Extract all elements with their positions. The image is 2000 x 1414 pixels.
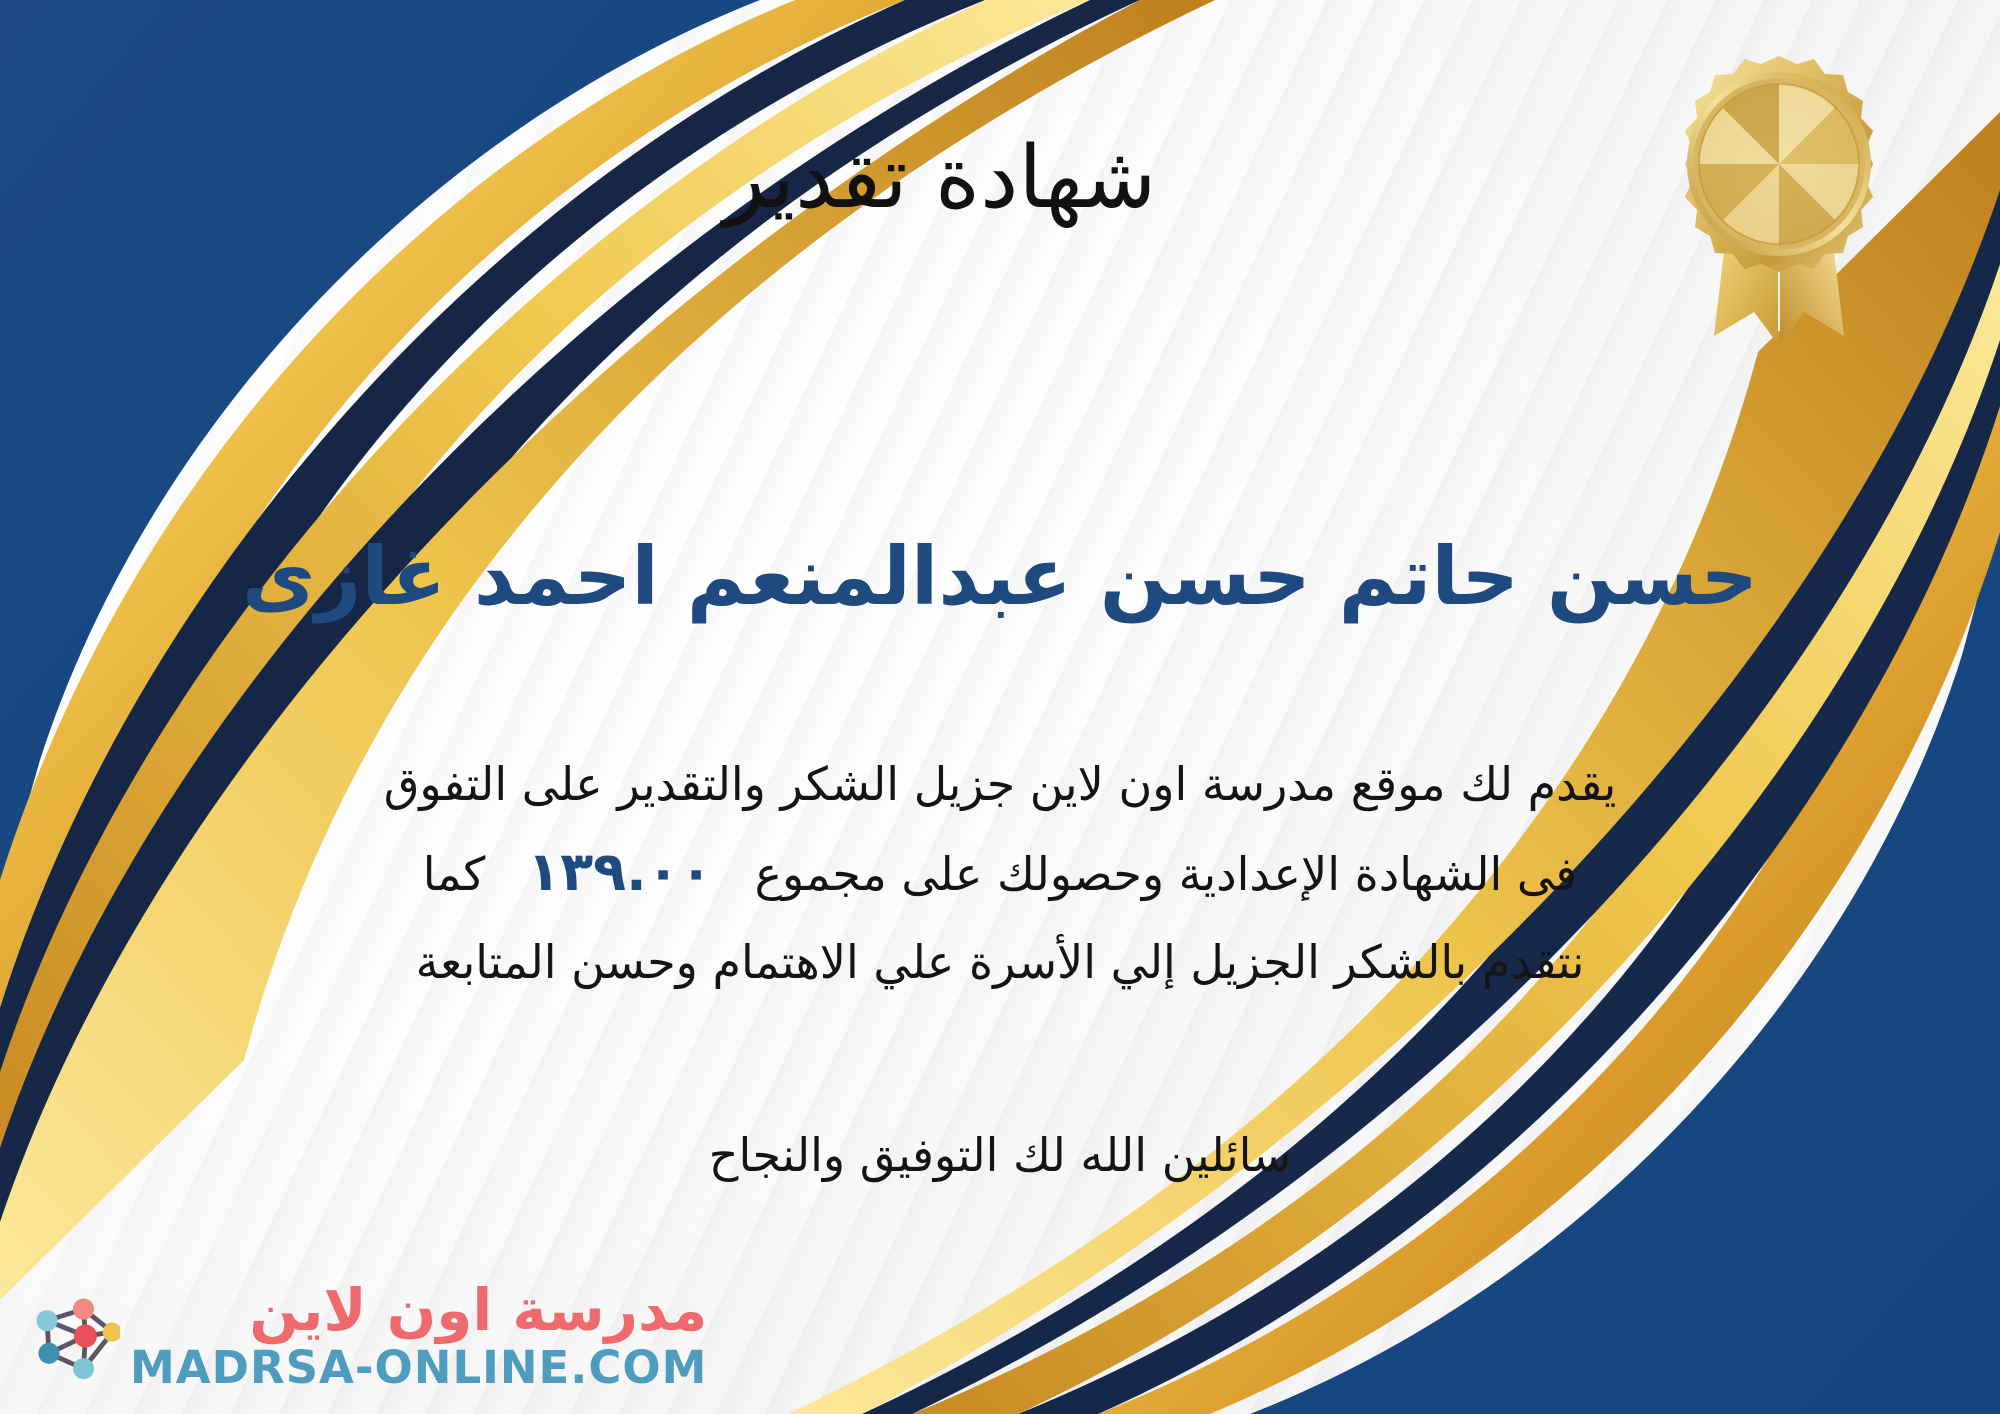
body-line-2-left-text: كما [423,847,486,901]
logo-arabic-name: مدرسة اون لاين [249,1281,707,1339]
score-value: ١٣٩.٠٠ [485,840,754,903]
closing-wish: سائلين الله لك التوفيق والنجاح [0,1128,2000,1182]
logo-text-block: مدرسة اون لاين MADRSA-ONLINE.COM [130,1281,707,1390]
student-name: حسن حاتم حسن عبدالمنعم احمد غازى [0,530,2000,623]
body-line-3: نتقدم بالشكر الجزيل إلي الأسرة علي الاهت… [60,918,1940,1006]
body-line-1: يقدم لك موقع مدرسة اون لاين جزيل الشكر و… [60,740,1940,828]
certificate-canvas: شهادة تقدير حسن حاتم حسن عبدالمنعم احمد … [0,0,2000,1414]
body-line-2-right-text: فى الشهادة الإعدادية وحصولك على مجموع [755,847,1578,901]
network-nodes-icon [24,1288,120,1384]
site-logo[interactable]: مدرسة اون لاين MADRSA-ONLINE.COM [24,1281,707,1390]
page-title: شهادة تقدير [0,128,2000,228]
certificate-content: شهادة تقدير حسن حاتم حسن عبدالمنعم احمد … [0,0,2000,1414]
body-line-2: فى الشهادة الإعدادية وحصولك على مجموع١٣٩… [60,828,1940,918]
logo-domain: MADRSA-ONLINE.COM [130,1345,707,1390]
certificate-body: يقدم لك موقع مدرسة اون لاين جزيل الشكر و… [60,740,1940,1006]
